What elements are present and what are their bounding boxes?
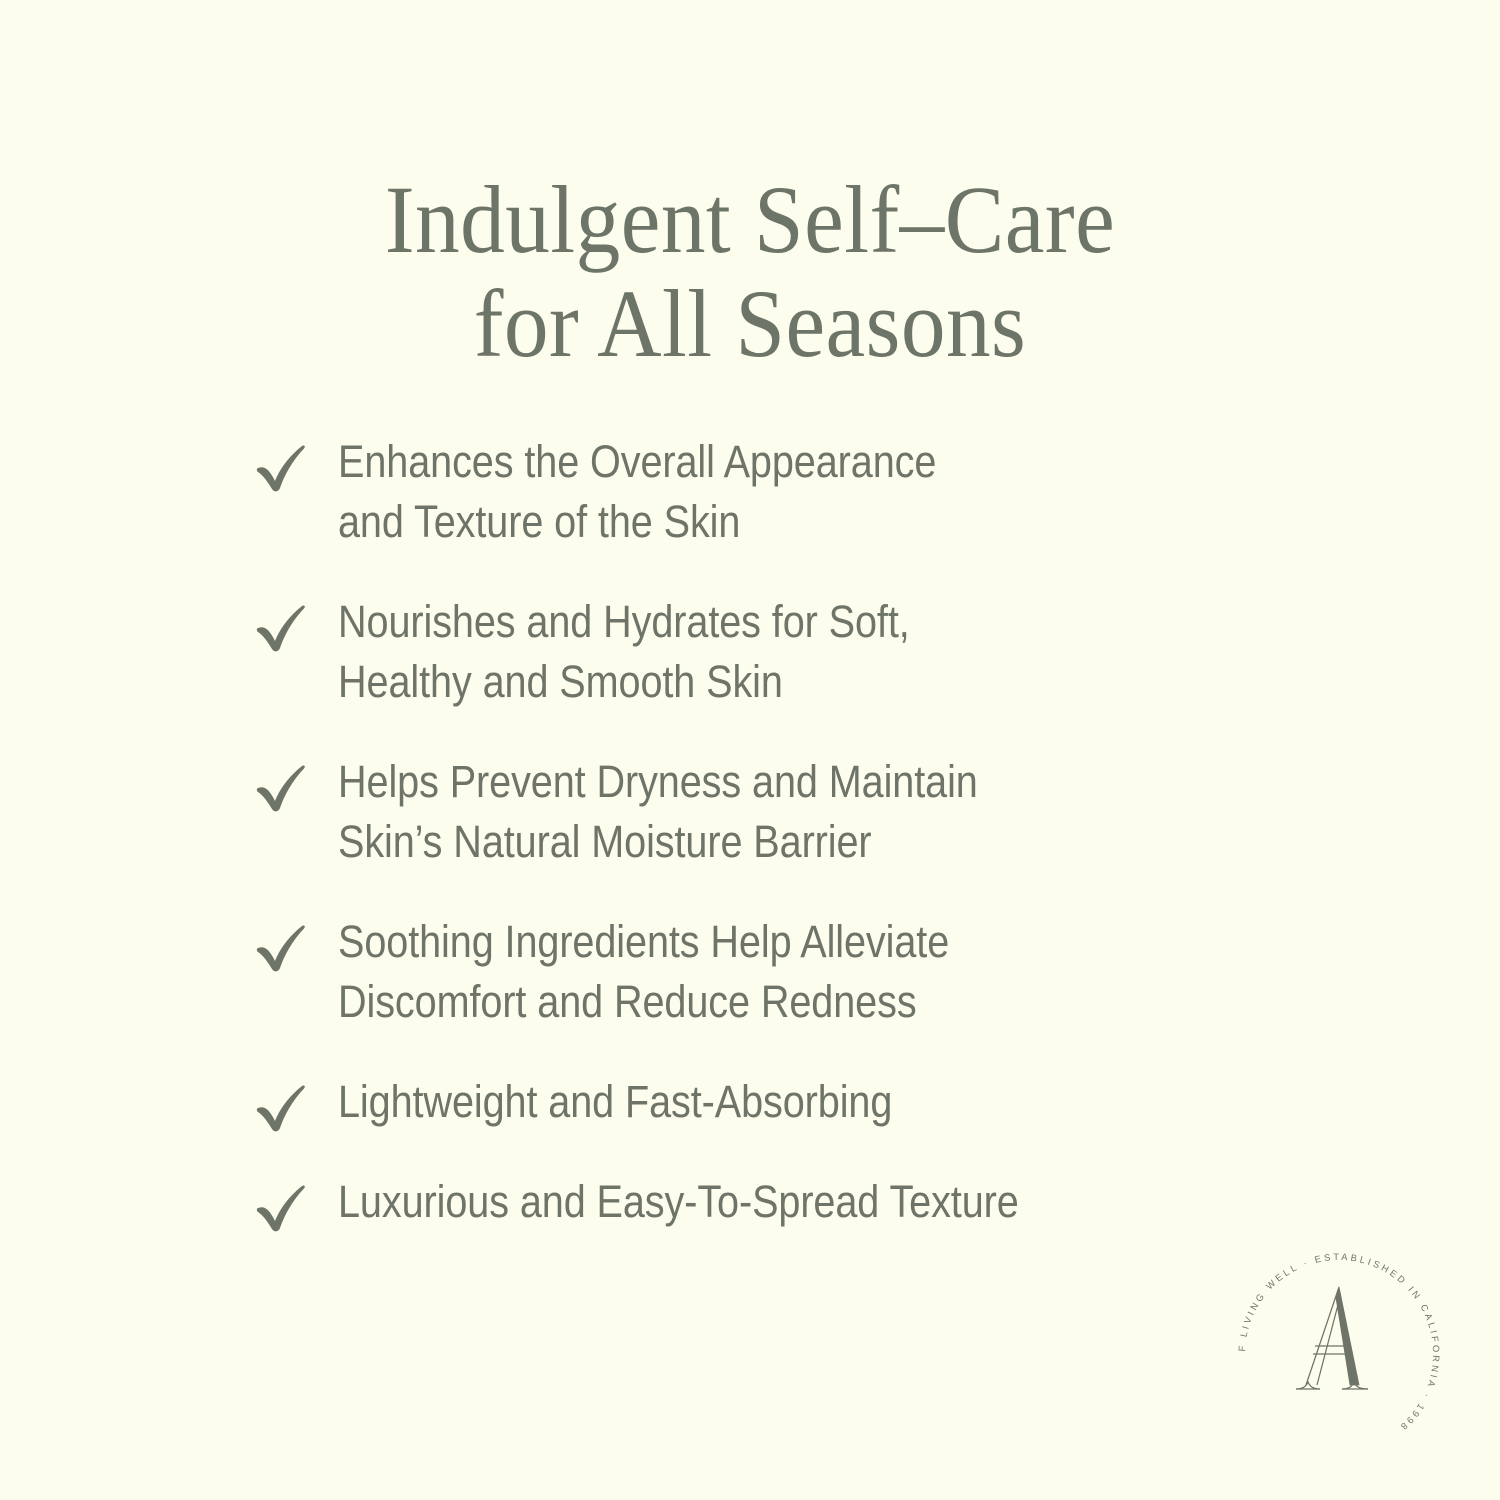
list-item: Helps Prevent Dryness and Maintain Skin’… [252, 752, 1232, 872]
page-title: Indulgent Self–Care for All Seasons [0, 168, 1500, 376]
checkmark-icon [252, 916, 312, 978]
list-item-label: Helps Prevent Dryness and Maintain Skin’… [338, 752, 1125, 872]
list-item-label: Enhances the Overall Appearance and Text… [338, 432, 1125, 552]
title-line-2: for All Seasons [53, 272, 1448, 376]
list-item-label: Lightweight and Fast-Absorbing [338, 1072, 1125, 1132]
list-item-label: Luxurious and Easy-To-Spread Texture [338, 1172, 1125, 1232]
checkmark-icon [252, 1076, 312, 1138]
list-item: Luxurious and Easy-To-Spread Texture [252, 1172, 1232, 1234]
list-item-label: Nourishes and Hydrates for Soft, Healthy… [338, 592, 1125, 712]
checkmark-icon [252, 436, 312, 498]
checkmark-icon [252, 756, 312, 818]
title-line-1: Indulgent Self–Care [53, 168, 1448, 272]
list-item: Soothing Ingredients Help Alleviate Disc… [252, 912, 1232, 1032]
list-item-label: Soothing Ingredients Help Alleviate Disc… [338, 912, 1125, 1032]
list-item: Lightweight and Fast-Absorbing [252, 1072, 1232, 1134]
brand-seal-logo: · THE ART OF LIVING WELL · ESTABLISHED I… [1228, 1243, 1450, 1465]
benefits-list: Enhances the Overall Appearance and Text… [252, 432, 1232, 1234]
checkmark-icon [252, 596, 312, 658]
list-item: Nourishes and Hydrates for Soft, Healthy… [252, 592, 1232, 712]
seal-monogram [1296, 1287, 1368, 1389]
promo-card: Indulgent Self–Care for All Seasons Enha… [0, 0, 1500, 1500]
checkmark-icon [252, 1176, 312, 1238]
seal-ring-text: · THE ART OF LIVING WELL · ESTABLISHED I… [1228, 1243, 1441, 1433]
list-item: Enhances the Overall Appearance and Text… [252, 432, 1232, 552]
